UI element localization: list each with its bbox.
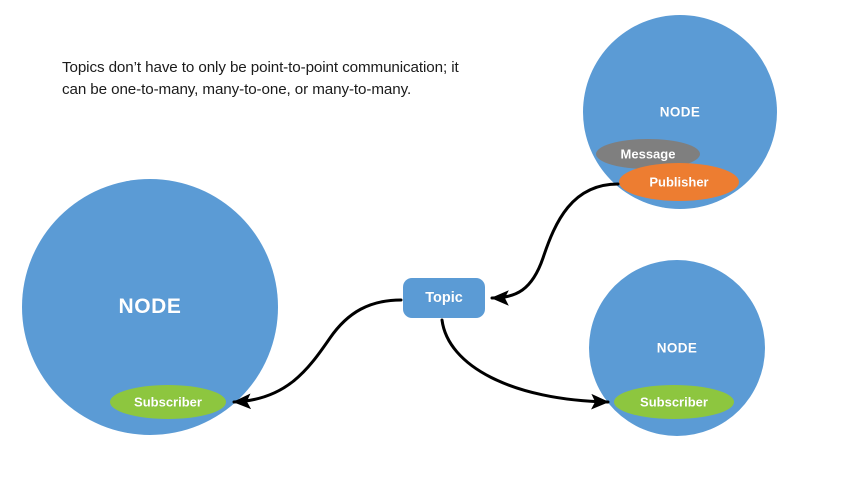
connector-topic-to-subscriber-bottom-right: [442, 320, 608, 402]
connector-publisher-to-topic: [492, 184, 618, 298]
caption-text: Topics don’t have to only be point-to-po…: [62, 57, 482, 100]
publisher-pill-shape[interactable]: [619, 163, 739, 201]
subscriber-pill-left-shape[interactable]: [110, 385, 226, 419]
topic-box-shape[interactable]: [403, 278, 485, 318]
subscriber-pill-bottom-right-shape[interactable]: [614, 385, 734, 419]
slide-canvas: Topics don’t have to only be point-to-po…: [0, 0, 854, 480]
